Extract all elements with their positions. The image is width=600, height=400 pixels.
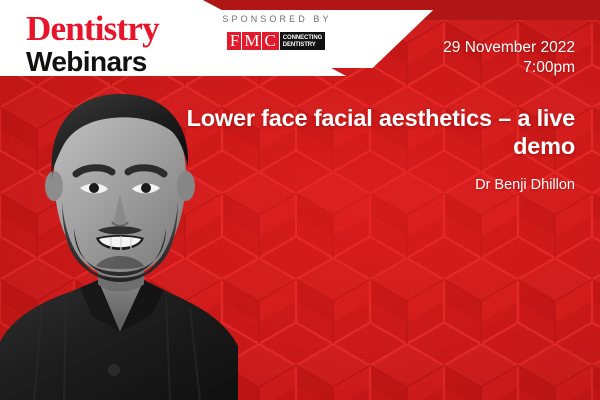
logo-line-dentistry: Dentistry <box>26 11 159 46</box>
fmc-tagline-line2: DENTISTRY <box>283 42 322 49</box>
webinar-speaker: Dr Benji Dhillon <box>155 176 575 194</box>
fmc-tagline: CONNECTING DENTISTRY <box>280 32 325 50</box>
fmc-logo[interactable]: F M C CONNECTING DENTISTRY <box>227 32 325 50</box>
fmc-letter-c: C <box>262 32 277 50</box>
logo-line-webinars: Webinars <box>26 48 159 76</box>
webinar-promo-banner: Dentistry Webinars SPONSORED BY F M C CO… <box>0 0 600 400</box>
fmc-letter-m: M <box>242 32 262 50</box>
fmc-letter-f: F <box>228 32 242 50</box>
fmc-letters: F M C <box>227 32 279 50</box>
sponsored-by-label: SPONSORED BY <box>198 14 356 24</box>
webinar-title: Lower face facial aesthetics – a live de… <box>155 104 575 160</box>
schedule-block: 29 November 2022 7:00pm <box>443 38 575 78</box>
fmc-tagline-line1: CONNECTING <box>283 35 322 42</box>
webinar-time: 7:00pm <box>443 58 575 78</box>
sponsor-block: SPONSORED BY F M C CONNECTING DENTISTRY <box>196 14 356 51</box>
dentistry-webinars-logo[interactable]: Dentistry Webinars <box>26 11 159 76</box>
webinar-title-block: Lower face facial aesthetics – a live de… <box>155 104 575 194</box>
webinar-date: 29 November 2022 <box>443 38 575 58</box>
